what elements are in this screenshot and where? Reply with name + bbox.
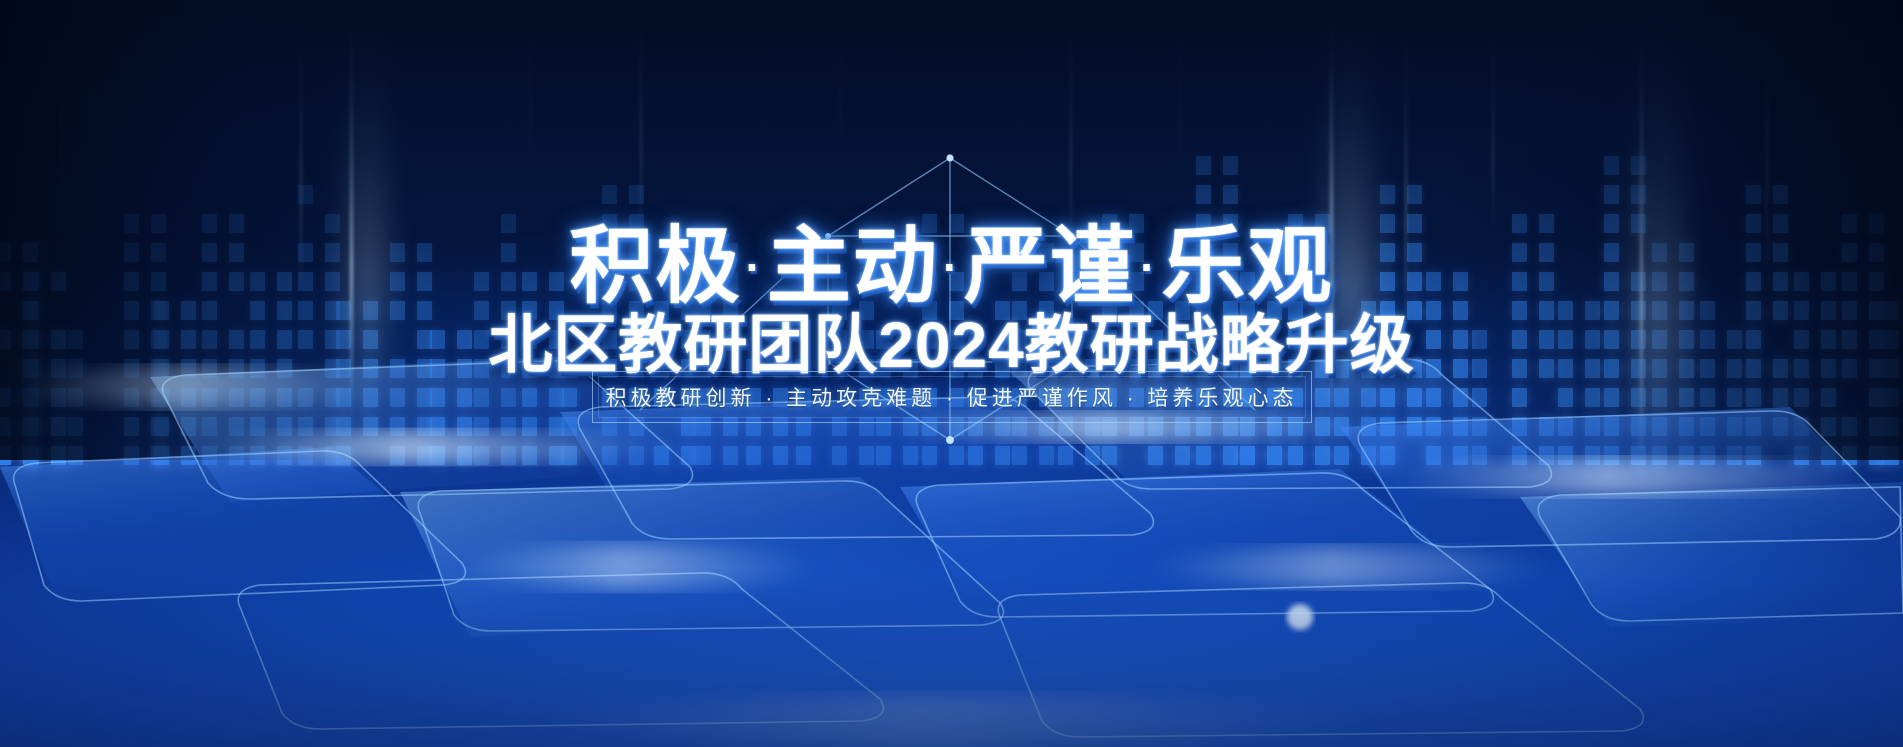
title-separator-1: · <box>741 241 766 293</box>
title-separator-2: · <box>939 241 964 293</box>
tagline-box: 积极教研创新 · 主动攻克难题 · 促进严谨作风 · 培养乐观心态 <box>592 371 1312 423</box>
title-word-3: 严谨 <box>964 219 1136 313</box>
title-word-2: 主动 <box>767 219 939 313</box>
title-word-1: 积极 <box>569 219 741 313</box>
title-word-4: 乐观 <box>1162 219 1334 313</box>
banner-canvas: 积极·主动·严谨·乐观 北区教研团队2024教研战略升级 积极教研创新 · 主动… <box>0 0 1903 747</box>
banner-main-title: 积极·主动·严谨·乐观 <box>0 224 1903 308</box>
tagline-text: 积极教研创新 · 主动攻克难题 · 促进严谨作风 · 培养乐观心态 <box>606 382 1298 412</box>
title-separator-3: · <box>1136 241 1161 293</box>
banner-text-block: 积极·主动·严谨·乐观 北区教研团队2024教研战略升级 积极教研创新 · 主动… <box>0 0 1903 747</box>
banner-subtitle: 北区教研团队2024教研战略升级 <box>0 313 1903 377</box>
